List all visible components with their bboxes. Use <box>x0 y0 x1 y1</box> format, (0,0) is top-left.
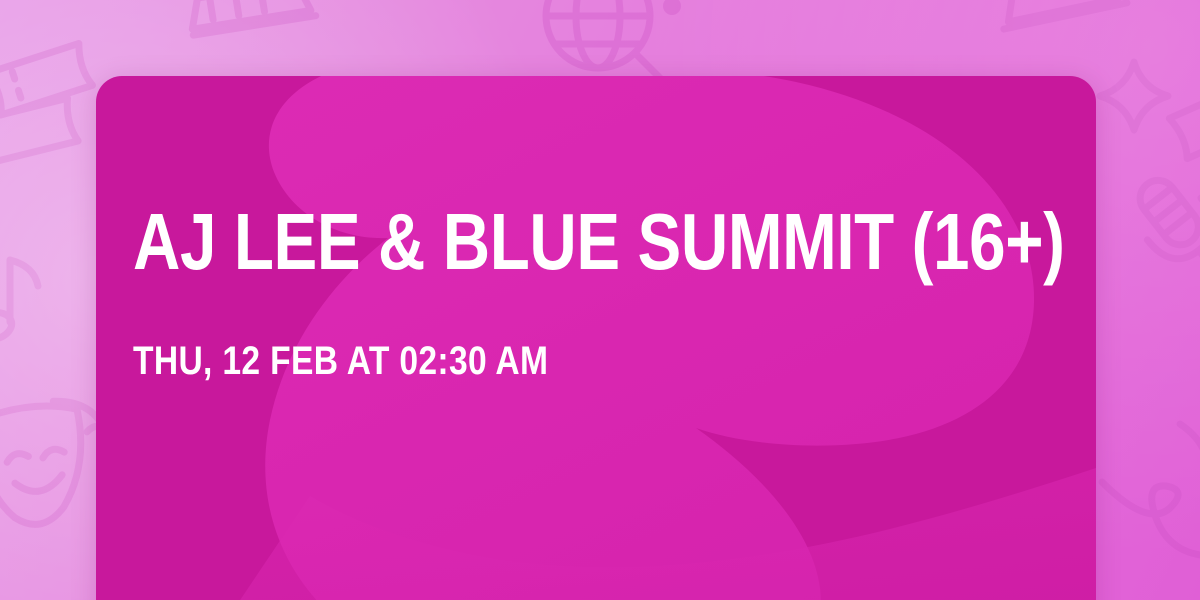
sparkle-icon <box>1100 62 1168 130</box>
event-title: AJ LEE & BLUE SUMMIT (16+) <box>133 204 890 281</box>
event-card[interactable]: AJ LEE & BLUE SUMMIT (16+) THU, 12 FEB A… <box>96 76 1096 600</box>
music-note-icon <box>0 260 38 343</box>
globe-icon <box>663 0 681 15</box>
event-datetime: THU, 12 FEB AT 02:30 AM <box>133 341 908 381</box>
ticket-icon <box>1169 90 1200 159</box>
globe-icon <box>546 0 664 82</box>
card-content: AJ LEE & BLUE SUMMIT (16+) THU, 12 FEB A… <box>133 76 1056 600</box>
stage-lights-icon <box>988 0 1127 29</box>
confetti-streamer-icon <box>1102 424 1200 556</box>
piano-keyboard-icon <box>185 0 316 35</box>
event-banner: AJ LEE & BLUE SUMMIT (16+) THU, 12 FEB A… <box>0 0 1200 600</box>
microphone-icon <box>1120 163 1200 292</box>
